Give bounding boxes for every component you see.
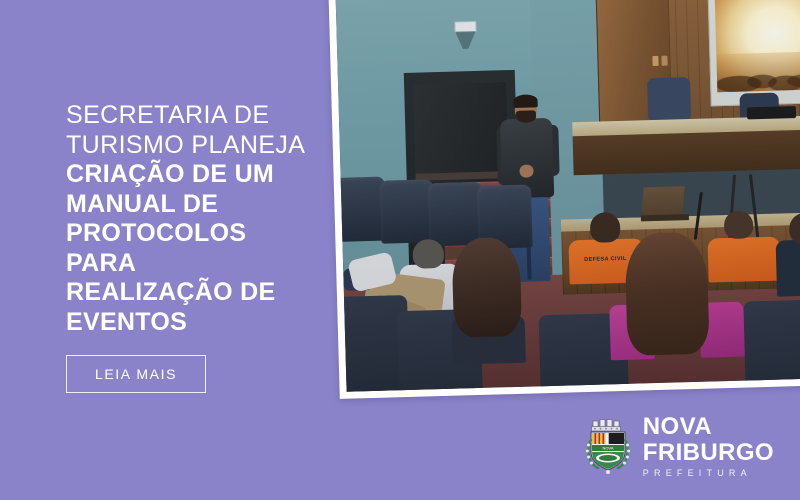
news-banner: DEFESA CIVIL SECRETARIA DE TURISMO PLANE… xyxy=(0,0,800,500)
logo-line-1: NOVA xyxy=(643,415,774,439)
headline-line-1: CRIAÇÃO DE UM xyxy=(66,160,336,190)
coat-of-arms-icon: NOVA xyxy=(584,418,632,476)
headline-line-3: PROTOCOLOS xyxy=(66,219,336,249)
front-attendee-long-hair xyxy=(624,231,710,356)
defesa-civil-vest-secondary xyxy=(707,237,781,283)
svg-text:NOVA: NOVA xyxy=(602,445,613,450)
event-photo: DEFESA CIVIL xyxy=(336,0,800,392)
headline-line-6: EVENTOS xyxy=(66,308,336,338)
kicker-line-1: SECRETARIA DE xyxy=(66,100,336,130)
front-row-seat xyxy=(743,299,800,392)
projection-screen-crowd xyxy=(716,52,800,93)
laptop-base xyxy=(641,214,690,222)
auditorium-seat xyxy=(336,177,387,242)
headline-block: SECRETARIA DE TURISMO PLANEJA CRIAÇÃO DE… xyxy=(66,100,336,337)
office-chair xyxy=(647,77,692,120)
headline-line-2: MANUAL DE xyxy=(66,190,336,220)
speaker-hair xyxy=(513,94,538,107)
headline-line-4: PARA xyxy=(66,249,336,279)
auditorium-seat xyxy=(428,182,483,247)
upper-desk-front xyxy=(573,129,800,176)
logo-wordmark: NOVA FRIBURGO PREFEITURA xyxy=(643,415,774,478)
kicker-line-2: TURISMO PLANEJA xyxy=(66,130,336,160)
door-knob-secondary-icon xyxy=(661,56,668,66)
read-more-button[interactable]: LEIA MAIS xyxy=(66,355,206,393)
defesa-civil-attendee-head xyxy=(590,212,621,243)
laptop-screen xyxy=(642,186,686,217)
auditorium-seat xyxy=(380,179,435,244)
prefeitura-logo[interactable]: NOVA NOVA FRIBURGO PR xyxy=(584,415,774,478)
defesa-civil-attendee-head-secondary xyxy=(723,210,753,239)
door-knob-icon xyxy=(652,56,659,66)
speaker-beard xyxy=(516,111,536,123)
attendee-right-body xyxy=(775,239,800,296)
wall-speaker-device xyxy=(454,21,477,32)
desk-equipment xyxy=(747,106,796,120)
event-photo-frame: DEFESA CIVIL xyxy=(328,0,800,399)
logo-line-2: FRIBURGO xyxy=(643,441,774,465)
front-attendee-hair xyxy=(452,236,523,337)
logo-line-3: PREFEITURA xyxy=(643,469,774,478)
attendee-white-shirt-head xyxy=(413,238,444,268)
headline-line-5: REALIZAÇÃO DE xyxy=(66,278,336,308)
